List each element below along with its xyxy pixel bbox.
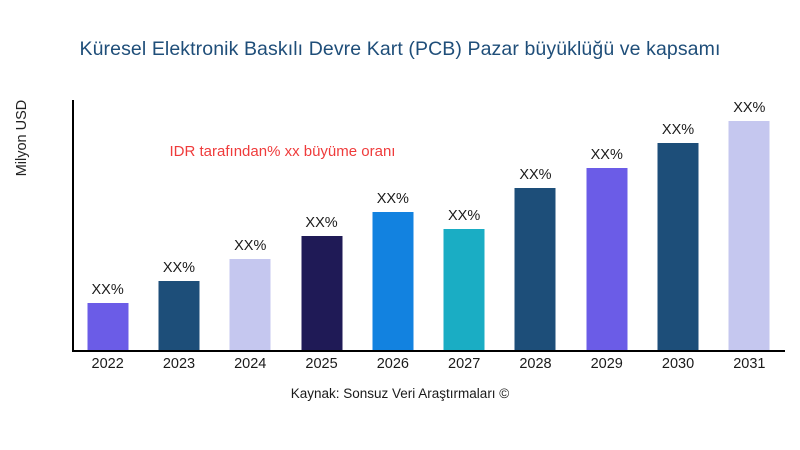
bar-value-label: XX% bbox=[234, 238, 266, 254]
y-axis-label: Milyon USD bbox=[14, 38, 30, 238]
bar-group: XX% bbox=[571, 100, 642, 350]
bar[interactable]: XX% bbox=[729, 121, 770, 350]
x-axis-tick-label: 2030 bbox=[642, 356, 713, 372]
bar-group: XX% bbox=[143, 100, 214, 350]
x-axis-tick-label: 2029 bbox=[571, 356, 642, 372]
bar-group: XX% bbox=[500, 100, 571, 350]
bar-group: XX% bbox=[357, 100, 428, 350]
bar-rect bbox=[158, 281, 199, 350]
bar-value-label: XX% bbox=[733, 100, 765, 116]
bar-rect bbox=[586, 168, 627, 350]
bar-value-label: XX% bbox=[163, 260, 195, 276]
bar[interactable]: XX% bbox=[372, 212, 413, 350]
x-axis-tick-label: 2024 bbox=[215, 356, 286, 372]
bar-rect bbox=[729, 121, 770, 350]
bar-rect bbox=[658, 143, 699, 350]
source-note: Kaynak: Sonsuz Veri Araştırmaları © bbox=[0, 386, 800, 401]
bar-value-label: XX% bbox=[305, 215, 337, 231]
bar-group: XX% bbox=[429, 100, 500, 350]
bar[interactable]: XX% bbox=[586, 168, 627, 350]
bar-value-label: XX% bbox=[591, 147, 623, 163]
bar[interactable]: XX% bbox=[230, 259, 271, 350]
x-axis-line bbox=[72, 350, 785, 352]
chart-title: Küresel Elektronik Baskılı Devre Kart (P… bbox=[0, 38, 800, 61]
bar-rect bbox=[87, 303, 128, 350]
x-axis-tick-label: 2027 bbox=[429, 356, 500, 372]
bar-value-label: XX% bbox=[662, 122, 694, 138]
bar-rect bbox=[515, 188, 556, 350]
bar[interactable]: XX% bbox=[515, 188, 556, 350]
bar-group: XX% bbox=[714, 100, 785, 350]
bar-group: XX% bbox=[72, 100, 143, 350]
x-axis-tick-label: 2031 bbox=[714, 356, 785, 372]
bar[interactable]: XX% bbox=[444, 229, 485, 350]
x-axis-tick-label: 2028 bbox=[500, 356, 571, 372]
bar-rect bbox=[301, 236, 342, 350]
bar-group: XX% bbox=[215, 100, 286, 350]
x-axis-tick-label: 2022 bbox=[72, 356, 143, 372]
bar[interactable]: XX% bbox=[87, 303, 128, 350]
bar-group: XX% bbox=[642, 100, 713, 350]
bar[interactable]: XX% bbox=[158, 281, 199, 350]
bar[interactable]: XX% bbox=[301, 236, 342, 350]
x-axis-tick-label: 2023 bbox=[143, 356, 214, 372]
bar-rect bbox=[372, 212, 413, 350]
bar-rect bbox=[230, 259, 271, 350]
bar-value-label: XX% bbox=[92, 282, 124, 298]
bar-value-label: XX% bbox=[448, 208, 480, 224]
bar-value-label: XX% bbox=[519, 167, 551, 183]
bar[interactable]: XX% bbox=[658, 143, 699, 350]
x-axis-tick-label: 2025 bbox=[286, 356, 357, 372]
x-axis-tick-label: 2026 bbox=[357, 356, 428, 372]
bar-series: XX%XX%XX%XX%XX%XX%XX%XX%XX%XX% bbox=[72, 100, 785, 350]
chart-canvas: Küresel Elektronik Baskılı Devre Kart (P… bbox=[0, 0, 800, 450]
bar-value-label: XX% bbox=[377, 191, 409, 207]
bar-rect bbox=[444, 229, 485, 350]
bar-group: XX% bbox=[286, 100, 357, 350]
